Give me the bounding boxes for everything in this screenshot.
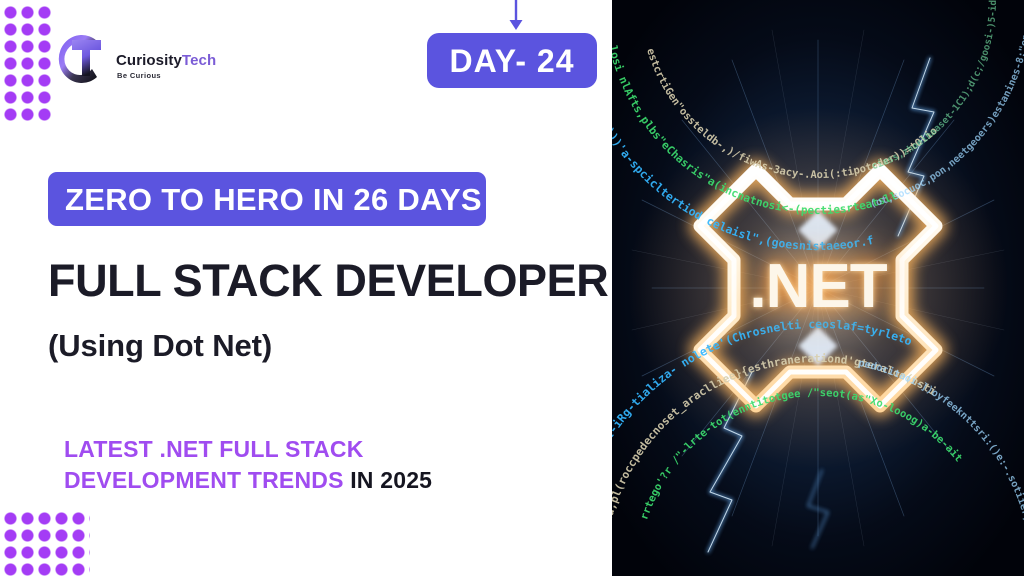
- slide-canvas: CuriosityTech Be Curious DAY- 24 ZERO TO…: [0, 0, 1024, 576]
- page-subtitle: (Using Dot Net): [48, 330, 272, 361]
- course-banner-label: ZERO TO HERO IN 26 DAYS: [48, 184, 482, 215]
- dotnet-artwork-image: =-p-poletu; hot-iRg-tializa- nolete'(Chr…: [612, 0, 1024, 576]
- decorative-dot-grid-bottom-left: [0, 508, 90, 576]
- dotnet-artwork-panel: =-p-poletu; hot-iRg-tializa- nolete'(Chr…: [612, 0, 1024, 576]
- brand-tagline: Be Curious: [117, 71, 161, 80]
- brand-name-primary: Curiosity: [116, 52, 182, 69]
- brand-name: CuriosityTech: [116, 52, 216, 70]
- decorative-dot-grid-top-left: [0, 2, 53, 122]
- curiosity-tech-monogram-icon: [56, 30, 112, 88]
- brand-name-secondary: Tech: [182, 52, 216, 69]
- topic-plain: IN 2025: [344, 467, 433, 493]
- page-title: FULL STACK DEVELOPER: [48, 258, 608, 303]
- day-badge[interactable]: DAY- 24: [427, 33, 597, 88]
- course-banner: ZERO TO HERO IN 26 DAYS: [48, 172, 486, 226]
- brand-logo: CuriosityTech Be Curious: [56, 30, 256, 92]
- arrow-down-icon: [505, 0, 527, 32]
- topic-line: LATEST .NET FULL STACK DEVELOPMENT TREND…: [64, 434, 534, 495]
- topic-highlight: LATEST .NET FULL STACK DEVELOPMENT TREND…: [64, 436, 364, 493]
- day-badge-label: DAY- 24: [450, 45, 575, 77]
